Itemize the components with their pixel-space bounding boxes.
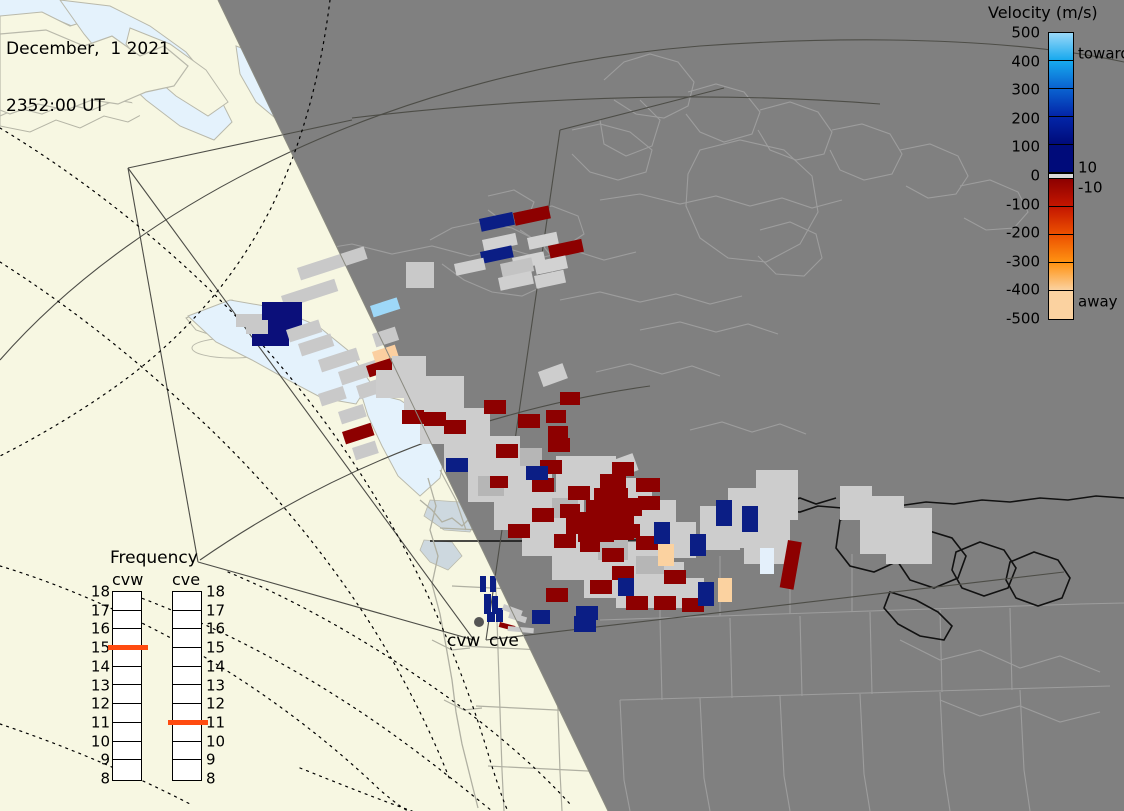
colorbar-segment-toward-4 xyxy=(1049,145,1073,173)
frequency-cell xyxy=(113,685,141,704)
colorbar-tick-500: 500 xyxy=(1011,26,1040,41)
frequency-tick-11: 11 xyxy=(88,715,110,730)
colorbar-tick-400: 400 xyxy=(1011,54,1040,69)
frequency-cell xyxy=(173,742,201,761)
frequency-cell xyxy=(173,760,201,779)
frequency-tick-9: 9 xyxy=(88,753,110,768)
frequency-cell xyxy=(113,611,141,630)
colorbar-tick-neg100: -100 xyxy=(1006,197,1040,212)
frequency-tick-16: 16 xyxy=(88,622,110,637)
colorbar-gradient[interactable] xyxy=(1048,32,1074,320)
frequency-cell xyxy=(113,592,141,611)
colorbar-tick-neg400: -400 xyxy=(1006,283,1040,298)
frequency-tick-18: 18 xyxy=(206,585,228,600)
colorbar-label-toward: toward xyxy=(1078,47,1124,62)
colorbar-tick-labels: 5004003002001000-100-200-300-400-500 xyxy=(980,32,1044,320)
frequency-tick-11: 11 xyxy=(206,715,228,730)
frequency-tick-12: 12 xyxy=(88,697,110,712)
colorbar-segment-away-2 xyxy=(1049,235,1073,263)
colorbar-title: Velocity (m/s) xyxy=(988,3,1124,22)
frequency-column-title-cve: cve xyxy=(172,570,200,589)
frequency-cell xyxy=(173,648,201,667)
frequency-scale-cvw: 18171615141312111098 xyxy=(88,591,110,781)
frequency-tick-16: 16 xyxy=(206,622,228,637)
colorbar-label-threshold-negative: -10 xyxy=(1078,181,1103,196)
frequency-marker-cve xyxy=(168,720,208,725)
frequency-marker-cvw xyxy=(108,645,148,650)
colorbar-tick-100: 100 xyxy=(1011,140,1040,155)
frequency-cell xyxy=(113,760,141,779)
frequency-column-title-cvw: cvw xyxy=(112,570,143,589)
colorbar-segment-away-4 xyxy=(1049,291,1073,319)
frequency-tick-14: 14 xyxy=(206,659,228,674)
frequency-cell xyxy=(173,611,201,630)
colorbar-segment-toward-1 xyxy=(1049,61,1073,89)
frequency-tick-17: 17 xyxy=(206,603,228,618)
site-label-cvw: cvw xyxy=(447,631,480,651)
frequency-cell xyxy=(113,723,141,742)
colorbar-segment-toward-3 xyxy=(1049,117,1073,145)
frequency-tick-13: 13 xyxy=(88,678,110,693)
colorbar-tick-200: 200 xyxy=(1011,111,1040,126)
frequency-tick-14: 14 xyxy=(88,659,110,674)
colorbar-segment-away-1 xyxy=(1049,207,1073,235)
timestamp: December, 1 2021 2352:00 UT xyxy=(6,2,170,154)
colorbar-tick-300: 300 xyxy=(1011,83,1040,98)
frequency-tick-13: 13 xyxy=(206,678,228,693)
colorbar-tick-0: 0 xyxy=(1030,169,1040,184)
colorbar-segment-toward-2 xyxy=(1049,89,1073,117)
colorbar-side-labels: toward10-10away xyxy=(1078,32,1124,320)
frequency-cell xyxy=(113,742,141,761)
frequency-tick-10: 10 xyxy=(206,734,228,749)
site-label-cve: cve xyxy=(489,631,519,651)
colorbar-segment-away-0 xyxy=(1049,179,1073,207)
frequency-title: Frequency xyxy=(110,548,198,568)
frequency-tick-9: 9 xyxy=(206,753,228,768)
colorbar-segment-away-3 xyxy=(1049,263,1073,291)
frequency-tick-17: 17 xyxy=(88,603,110,618)
frequency-legend: Frequency cvw cve 18171615141312111098 1… xyxy=(88,548,258,788)
frequency-cell xyxy=(173,685,201,704)
frequency-cell xyxy=(113,704,141,723)
colorbar-label-away: away xyxy=(1078,295,1118,310)
colorbar-label-threshold-positive: 10 xyxy=(1078,161,1097,176)
colorbar-tick-neg300: -300 xyxy=(1006,254,1040,269)
frequency-cell xyxy=(173,629,201,648)
frequency-cell xyxy=(173,667,201,686)
frequency-scale-cve: 18171615141312111098 xyxy=(206,591,228,781)
frequency-tick-8: 8 xyxy=(88,772,110,787)
colorbar-tick-neg500: -500 xyxy=(1006,312,1040,327)
velocity-colorbar-panel: Velocity (m/s) 5004003002001000-100-200-… xyxy=(980,0,1124,340)
timestamp-date: December, 1 2021 xyxy=(6,40,170,59)
frequency-cell xyxy=(173,592,201,611)
frequency-tick-10: 10 xyxy=(88,734,110,749)
colorbar-tick-neg200: -200 xyxy=(1006,226,1040,241)
frequency-tick-18: 18 xyxy=(88,585,110,600)
frequency-tick-12: 12 xyxy=(206,697,228,712)
frequency-cell xyxy=(113,667,141,686)
frequency-tick-15: 15 xyxy=(88,641,110,656)
frequency-cell xyxy=(113,648,141,667)
frequency-bar-cvw[interactable] xyxy=(112,591,142,781)
frequency-tick-8: 8 xyxy=(206,772,228,787)
colorbar-segment-toward-0 xyxy=(1049,33,1073,61)
timestamp-time: 2352:00 UT xyxy=(6,97,170,116)
frequency-cell xyxy=(173,723,201,742)
frequency-tick-15: 15 xyxy=(206,641,228,656)
frequency-bar-cve[interactable] xyxy=(172,591,202,781)
radar-map-screenshot: December, 1 2021 2352:00 UT cvw cve Velo… xyxy=(0,0,1124,811)
